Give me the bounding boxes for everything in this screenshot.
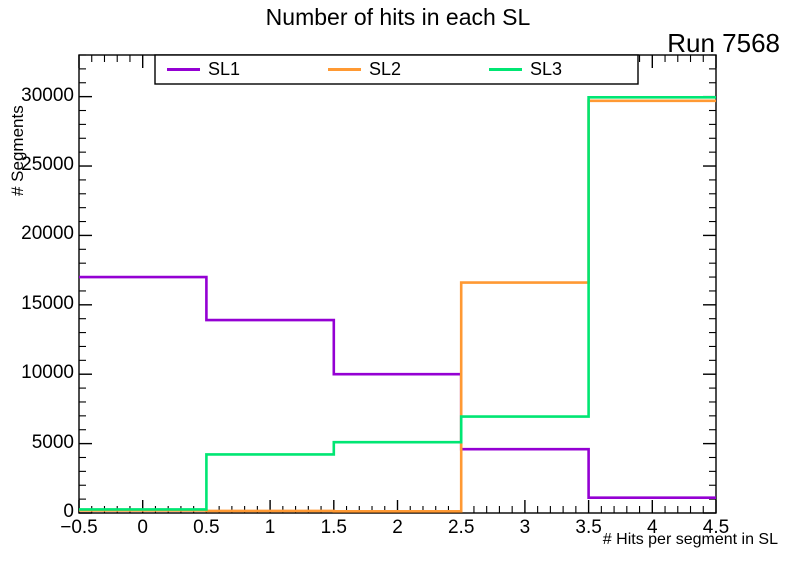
x-tick-label: 3.5: [575, 517, 601, 539]
y-tick-label: 25000: [21, 154, 74, 176]
y-tick-label: 10000: [21, 362, 74, 384]
y-tick-label: 15000: [21, 293, 74, 315]
plot-frame: [79, 55, 716, 513]
x-tick-label: 0: [137, 517, 148, 539]
legend-label-sl1: SL1: [208, 59, 240, 80]
page-title: Number of hits in each SL: [0, 4, 796, 31]
histogram-canvas: [0, 0, 796, 572]
series-line-sl3: [79, 97, 716, 509]
x-tick-label: 4.5: [703, 517, 729, 539]
y-tick-label: 30000: [21, 85, 74, 107]
legend-label-sl3: SL3: [530, 59, 562, 80]
y-axis-title: # Segments: [8, 105, 28, 196]
series-line-sl1: [79, 277, 716, 498]
legend-label-sl2: SL2: [369, 59, 401, 80]
x-tick-label: 2.5: [448, 517, 474, 539]
x-tick-label: 4: [647, 517, 658, 539]
x-tick-label: 1: [265, 517, 276, 539]
series-line-sl2: [79, 101, 716, 512]
y-tick-label: 5000: [32, 432, 74, 454]
x-axis-title: # Hits per segment in SL: [603, 531, 778, 549]
x-tick-label: −0.5: [60, 517, 98, 539]
x-tick-label: 2: [392, 517, 403, 539]
x-tick-label: 0.5: [193, 517, 219, 539]
axis-ticks: [79, 55, 716, 513]
y-tick-label: 20000: [21, 223, 74, 245]
x-tick-label: 1.5: [321, 517, 347, 539]
run-annotation: Run 7568: [667, 28, 780, 59]
x-tick-label: 3: [520, 517, 531, 539]
histogram-series: [79, 97, 716, 511]
